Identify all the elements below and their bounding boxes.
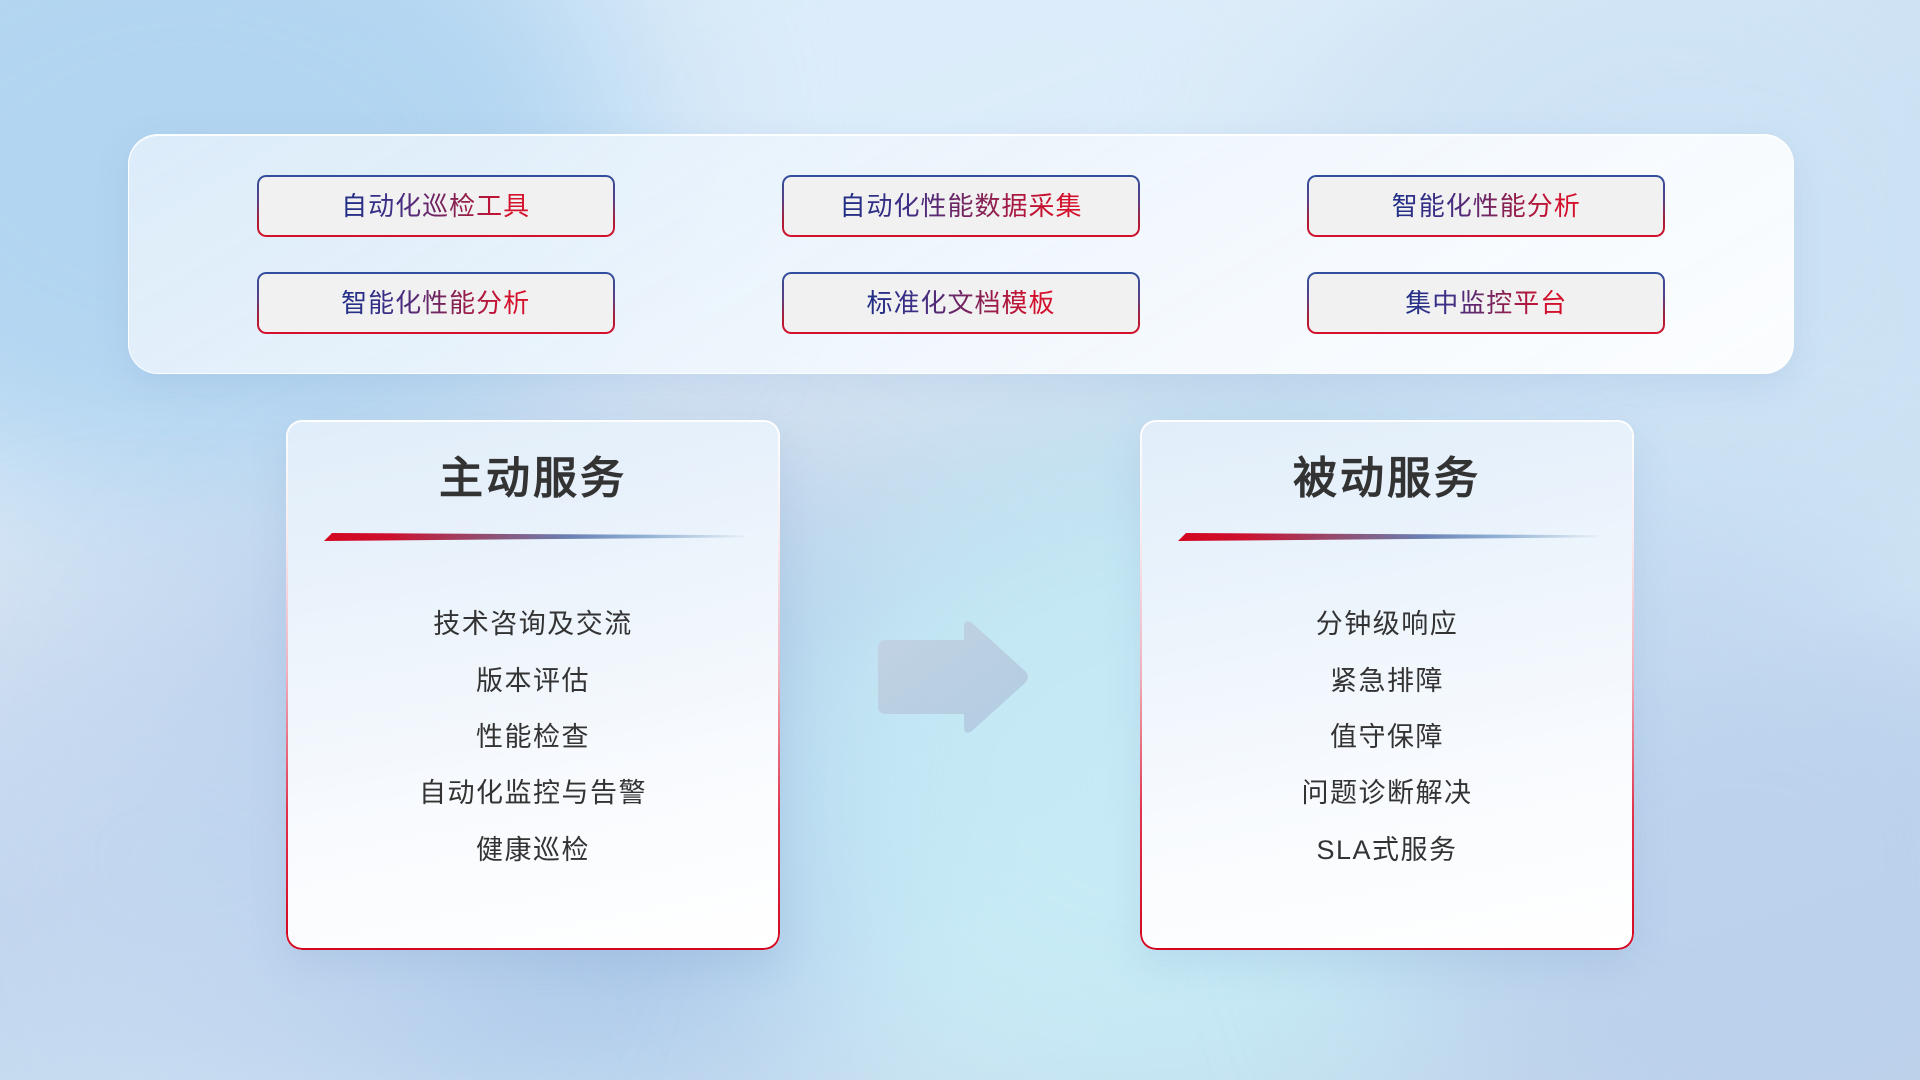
card-content: 被动服务 [1140, 420, 1634, 950]
list-item: 健康巡检 [322, 834, 744, 866]
list-item: 问题诊断解决 [1176, 777, 1598, 809]
capability-pill[interactable]: 自动化巡检工具 [257, 175, 615, 237]
reactive-service-list: 分钟级响应 紧急排障 值守保障 问题诊断解决 SLA式服务 [1176, 555, 1598, 920]
arrow-right-icon [872, 618, 1032, 736]
list-item: 分钟级响应 [1176, 608, 1598, 640]
capability-pill[interactable]: 自动化性能数据采集 [782, 175, 1140, 237]
capability-panel: 自动化巡检工具 自动化性能数据采集 智能化性能分析 智能化性能分析 标准化文档模… [128, 134, 1794, 374]
capability-pill[interactable]: 集中监控平台 [1307, 272, 1665, 334]
card-content: 主动服务 [286, 420, 780, 950]
capability-pill-label: 集中监控平台 [1405, 290, 1567, 316]
list-item: 自动化监控与告警 [322, 777, 744, 809]
capability-pill-label: 自动化巡检工具 [341, 193, 530, 219]
list-item: 版本评估 [322, 665, 744, 697]
card-divider [322, 529, 744, 545]
capability-pill-label: 标准化文档模板 [866, 290, 1055, 316]
proactive-service-card: 主动服务 [286, 420, 780, 950]
list-item: 值守保障 [1176, 721, 1598, 753]
list-item: SLA式服务 [1176, 834, 1598, 866]
card-divider [1176, 529, 1598, 545]
slide-canvas: 自动化巡检工具 自动化性能数据采集 智能化性能分析 智能化性能分析 标准化文档模… [0, 0, 1920, 1080]
card-title: 主动服务 [439, 454, 627, 505]
list-item: 技术咨询及交流 [322, 608, 744, 640]
capability-pill[interactable]: 智能化性能分析 [1307, 175, 1665, 237]
proactive-service-list: 技术咨询及交流 版本评估 性能检查 自动化监控与告警 健康巡检 [322, 555, 744, 920]
list-item: 紧急排障 [1176, 665, 1598, 697]
capability-pill-label: 智能化性能分析 [341, 290, 530, 316]
capability-pill[interactable]: 标准化文档模板 [782, 272, 1140, 334]
capability-pill-label: 自动化性能数据采集 [839, 193, 1082, 219]
capability-pill[interactable]: 智能化性能分析 [257, 272, 615, 334]
reactive-service-card: 被动服务 [1140, 420, 1634, 950]
card-title: 被动服务 [1293, 454, 1481, 505]
capability-pill-grid: 自动化巡检工具 自动化性能数据采集 智能化性能分析 智能化性能分析 标准化文档模… [129, 135, 1793, 373]
capability-pill-label: 智能化性能分析 [1392, 193, 1581, 219]
list-item: 性能检查 [322, 721, 744, 753]
